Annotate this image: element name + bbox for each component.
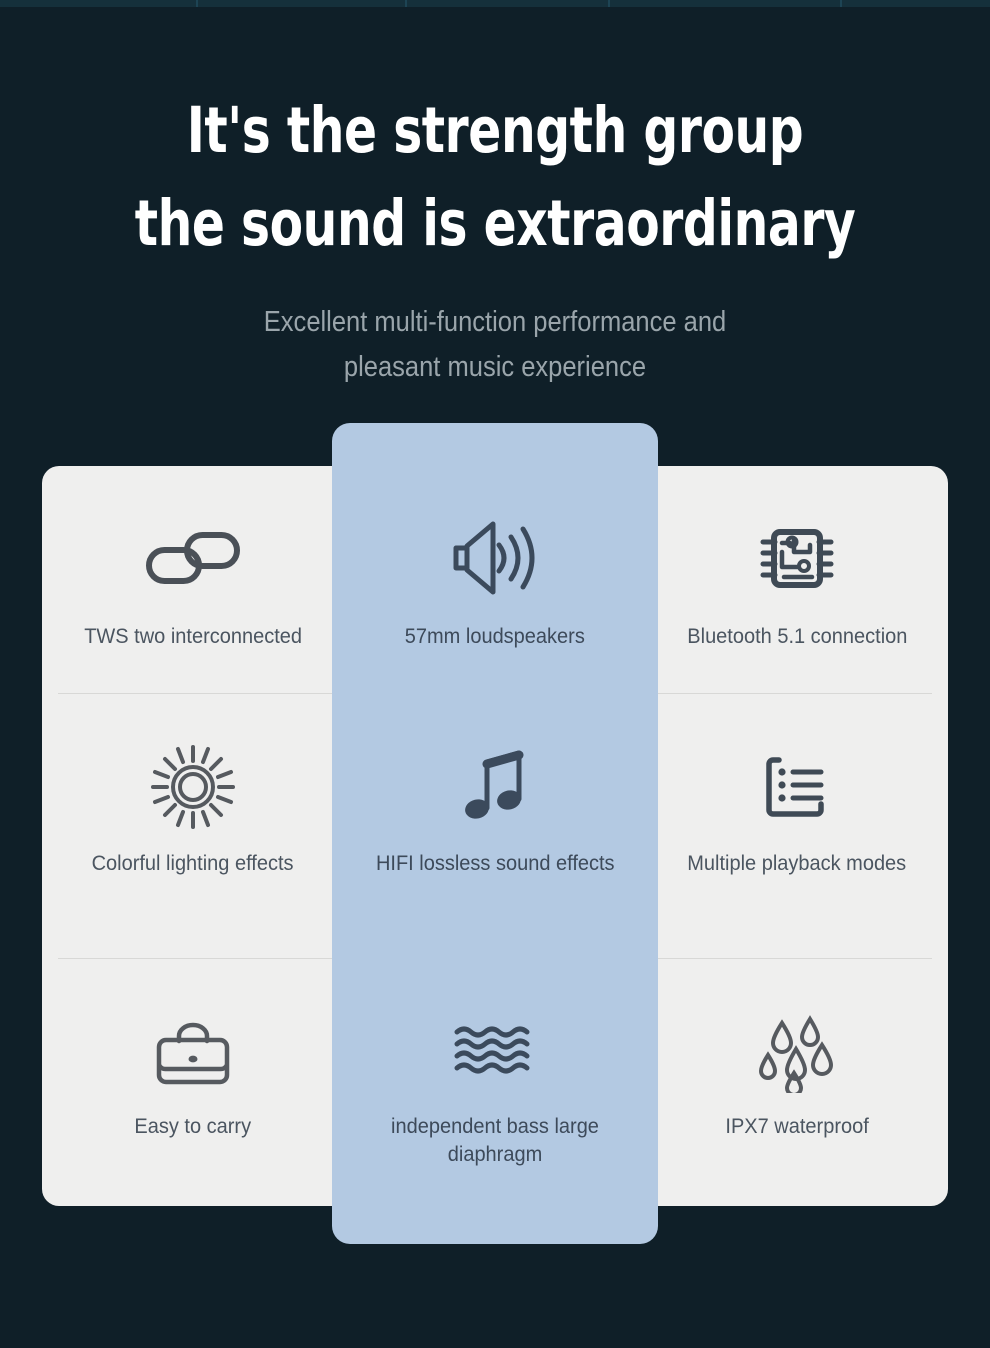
speaker-volume-icon (449, 510, 541, 606)
feature-cell-bass[interactable]: independent bass large diaphragm (344, 958, 646, 1206)
feature-cell-loudspeakers[interactable]: 57mm loudspeakers (344, 466, 646, 693)
page-title-line1: It's the strength group (187, 94, 804, 167)
chain-link-icon (144, 510, 242, 606)
feature-label: independent bass large diaphragm (360, 1112, 630, 1169)
feature-cell-playback[interactable]: Multiple playback modes (646, 693, 948, 958)
product-feature-page: It's the strength group the sound is ext… (0, 0, 990, 1348)
strip-tick (840, 0, 842, 7)
page-subtitle: Excellent multi-function performance and… (59, 300, 930, 390)
sound-waves-icon (453, 1004, 537, 1100)
feature-cell-bluetooth[interactable]: Bluetooth 5.1 connection (646, 466, 948, 693)
feature-cell-tws[interactable]: TWS two interconnected (42, 466, 344, 693)
feature-cell-hifi[interactable]: HIFI lossless sound effects (344, 693, 646, 958)
strip-tick (196, 0, 198, 7)
feature-cell-lighting[interactable]: Colorful lighting effects (42, 693, 344, 958)
feature-label: TWS two interconnected (84, 622, 302, 650)
feature-grid: TWS two interconnected 57mm loudspeakers (42, 466, 948, 1206)
feature-label: Colorful lighting effects (92, 849, 294, 877)
strip-tick (405, 0, 407, 7)
feature-label: HIFI lossless sound effects (376, 849, 615, 877)
briefcase-icon (153, 1004, 233, 1100)
water-droplets-icon (754, 1004, 840, 1100)
music-note-icon (463, 739, 527, 835)
feature-label: IPX7 waterproof (725, 1112, 868, 1140)
playlist-icon (763, 739, 831, 835)
sun-rays-icon (151, 739, 235, 835)
page-subtitle-line2: pleasant music experience (59, 345, 930, 390)
page-subtitle-line1: Excellent multi-function performance and (59, 300, 930, 345)
feature-cell-portable[interactable]: Easy to carry (42, 958, 344, 1206)
page-title-line2: the sound is extraordinary (69, 177, 920, 270)
chip-circuit-icon (760, 510, 834, 606)
top-decorative-strip (0, 0, 990, 7)
feature-label: 57mm loudspeakers (405, 622, 585, 650)
feature-label: Easy to carry (135, 1112, 252, 1140)
feature-label: Multiple playback modes (688, 849, 907, 877)
strip-tick (608, 0, 610, 7)
feature-cell-waterproof[interactable]: IPX7 waterproof (646, 958, 948, 1206)
page-title: It's the strength group the sound is ext… (69, 84, 920, 270)
feature-label: Bluetooth 5.1 connection (687, 622, 907, 650)
